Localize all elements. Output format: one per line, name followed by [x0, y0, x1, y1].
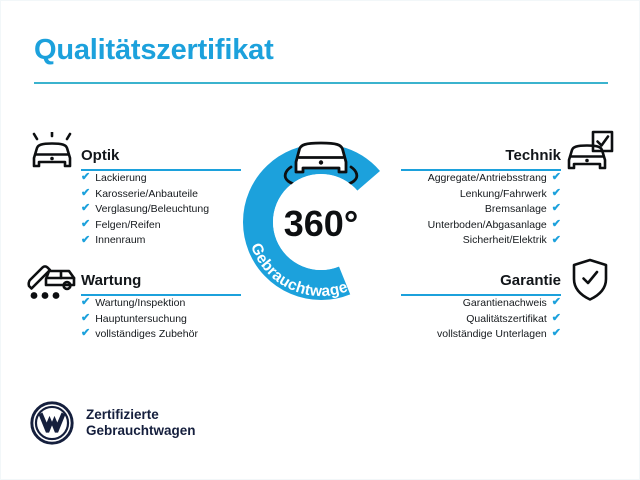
list-item-label: Hauptuntersuchung [95, 312, 187, 328]
section-garantie: Garantie Garantienachweis✔ Qualitätszert… [401, 266, 561, 343]
list-item: ✔Wartung/Inspektion [81, 296, 241, 312]
footer-brand: Zertifizierte Gebrauchtwagen [30, 401, 196, 445]
list-item: Lenkung/Fahrwerk✔ [401, 187, 561, 203]
check-icon: ✔ [81, 219, 90, 230]
list-item-label: Sicherheit/Elektrik [463, 233, 547, 249]
section-header-technik: Technik [401, 141, 561, 171]
check-icon: ✔ [552, 313, 561, 324]
check-icon: ✔ [552, 219, 561, 230]
list-item-label: Lackierung [95, 171, 146, 187]
list-item: Unterboden/Abgasanlage✔ [401, 218, 561, 234]
section-title: Optik [81, 147, 119, 164]
list-item: Aggregate/Antriebsstrang✔ [401, 171, 561, 187]
list-item: Sicherheit/Elektrik✔ [401, 233, 561, 249]
list-item-label: Innenraum [95, 233, 145, 249]
check-icon: ✔ [552, 188, 561, 199]
title-divider [34, 82, 608, 84]
vw-logo [30, 401, 74, 445]
section-title: Wartung [81, 272, 141, 289]
list-item-label: vollständige Unterlagen [437, 327, 547, 343]
section-divider [81, 294, 241, 296]
list-item: ✔Felgen/Reifen [81, 218, 241, 234]
section-header-optik: Optik [81, 141, 241, 171]
section-optik: Optik ✔Lackierung ✔Karosserie/Anbauteile… [81, 141, 241, 249]
list-item-label: Qualitätszertifikat [466, 312, 547, 328]
list-item-label: Verglasung/Beleuchtung [95, 202, 209, 218]
section-divider [81, 169, 241, 171]
list-item-label: Lenkung/Fahrwerk [460, 187, 547, 203]
checklist-optik: ✔Lackierung ✔Karosserie/Anbauteile ✔Verg… [81, 171, 241, 249]
check-icon: ✔ [81, 328, 90, 339]
section-header-garantie: Garantie [401, 266, 561, 296]
section-title: Garantie [500, 272, 561, 289]
list-item: Garantienachweis✔ [401, 296, 561, 312]
footer-line-1: Zertifizierte [86, 407, 196, 423]
list-item-label: Wartung/Inspektion [95, 296, 185, 312]
section-header-wartung: Wartung [81, 266, 241, 296]
list-item-label: Aggregate/Antriebsstrang [428, 171, 547, 187]
badge-360-gebrauchtwagen-check: 360° Gebrauchtwagen-Check [225, 114, 417, 312]
checklist-garantie: Garantienachweis✔ Qualitätszertifikat✔ v… [401, 296, 561, 343]
list-item: Qualitätszertifikat✔ [401, 312, 561, 328]
list-item-label: Felgen/Reifen [95, 218, 160, 234]
list-item: ✔Verglasung/Beleuchtung [81, 202, 241, 218]
list-item-label: Unterboden/Abgasanlage [428, 218, 547, 234]
list-item: ✔vollständiges Zubehör [81, 327, 241, 343]
check-icon: ✔ [552, 235, 561, 246]
list-item-label: Bremsanlage [485, 202, 547, 218]
list-item: ✔Lackierung [81, 171, 241, 187]
wrench-car-icon [25, 257, 79, 306]
list-item-label: vollständiges Zubehör [95, 327, 198, 343]
footer-text: Zertifizierte Gebrauchtwagen [86, 407, 196, 439]
check-icon: ✔ [81, 203, 90, 214]
check-icon: ✔ [552, 297, 561, 308]
section-wartung: Wartung ✔Wartung/Inspektion ✔Hauptunters… [81, 266, 241, 343]
list-item: ✔Karosserie/Anbauteile [81, 187, 241, 203]
footer-line-2: Gebrauchtwagen [86, 423, 196, 439]
check-icon: ✔ [81, 313, 90, 324]
shield-check-icon [570, 258, 610, 307]
check-icon: ✔ [552, 328, 561, 339]
section-divider [401, 169, 561, 171]
check-icon: ✔ [552, 172, 561, 183]
certificate-page: Qualitätszertifikat Optik ✔Lackierung ✔K… [0, 0, 640, 480]
section-title: Technik [505, 147, 561, 164]
badge-center-label: 360° [284, 203, 358, 244]
check-icon: ✔ [81, 172, 90, 183]
check-icon: ✔ [81, 188, 90, 199]
list-item: ✔Innenraum [81, 233, 241, 249]
checklist-wartung: ✔Wartung/Inspektion ✔Hauptuntersuchung ✔… [81, 296, 241, 343]
list-item: ✔Hauptuntersuchung [81, 312, 241, 328]
checklist-technik: Aggregate/Antriebsstrang✔ Lenkung/Fahrwe… [401, 171, 561, 249]
list-item-label: Garantienachweis [463, 296, 547, 312]
list-item-label: Karosserie/Anbauteile [95, 187, 198, 203]
section-technik: Technik Aggregate/Antriebsstrang✔ Lenkun… [401, 141, 561, 249]
list-item: vollständige Unterlagen✔ [401, 327, 561, 343]
section-divider [401, 294, 561, 296]
car-checkbox-icon [563, 130, 615, 179]
check-icon: ✔ [81, 297, 90, 308]
check-icon: ✔ [81, 235, 90, 246]
list-item: Bremsanlage✔ [401, 202, 561, 218]
check-icon: ✔ [552, 203, 561, 214]
car-shine-icon [27, 132, 77, 179]
page-title: Qualitätszertifikat [34, 34, 274, 67]
